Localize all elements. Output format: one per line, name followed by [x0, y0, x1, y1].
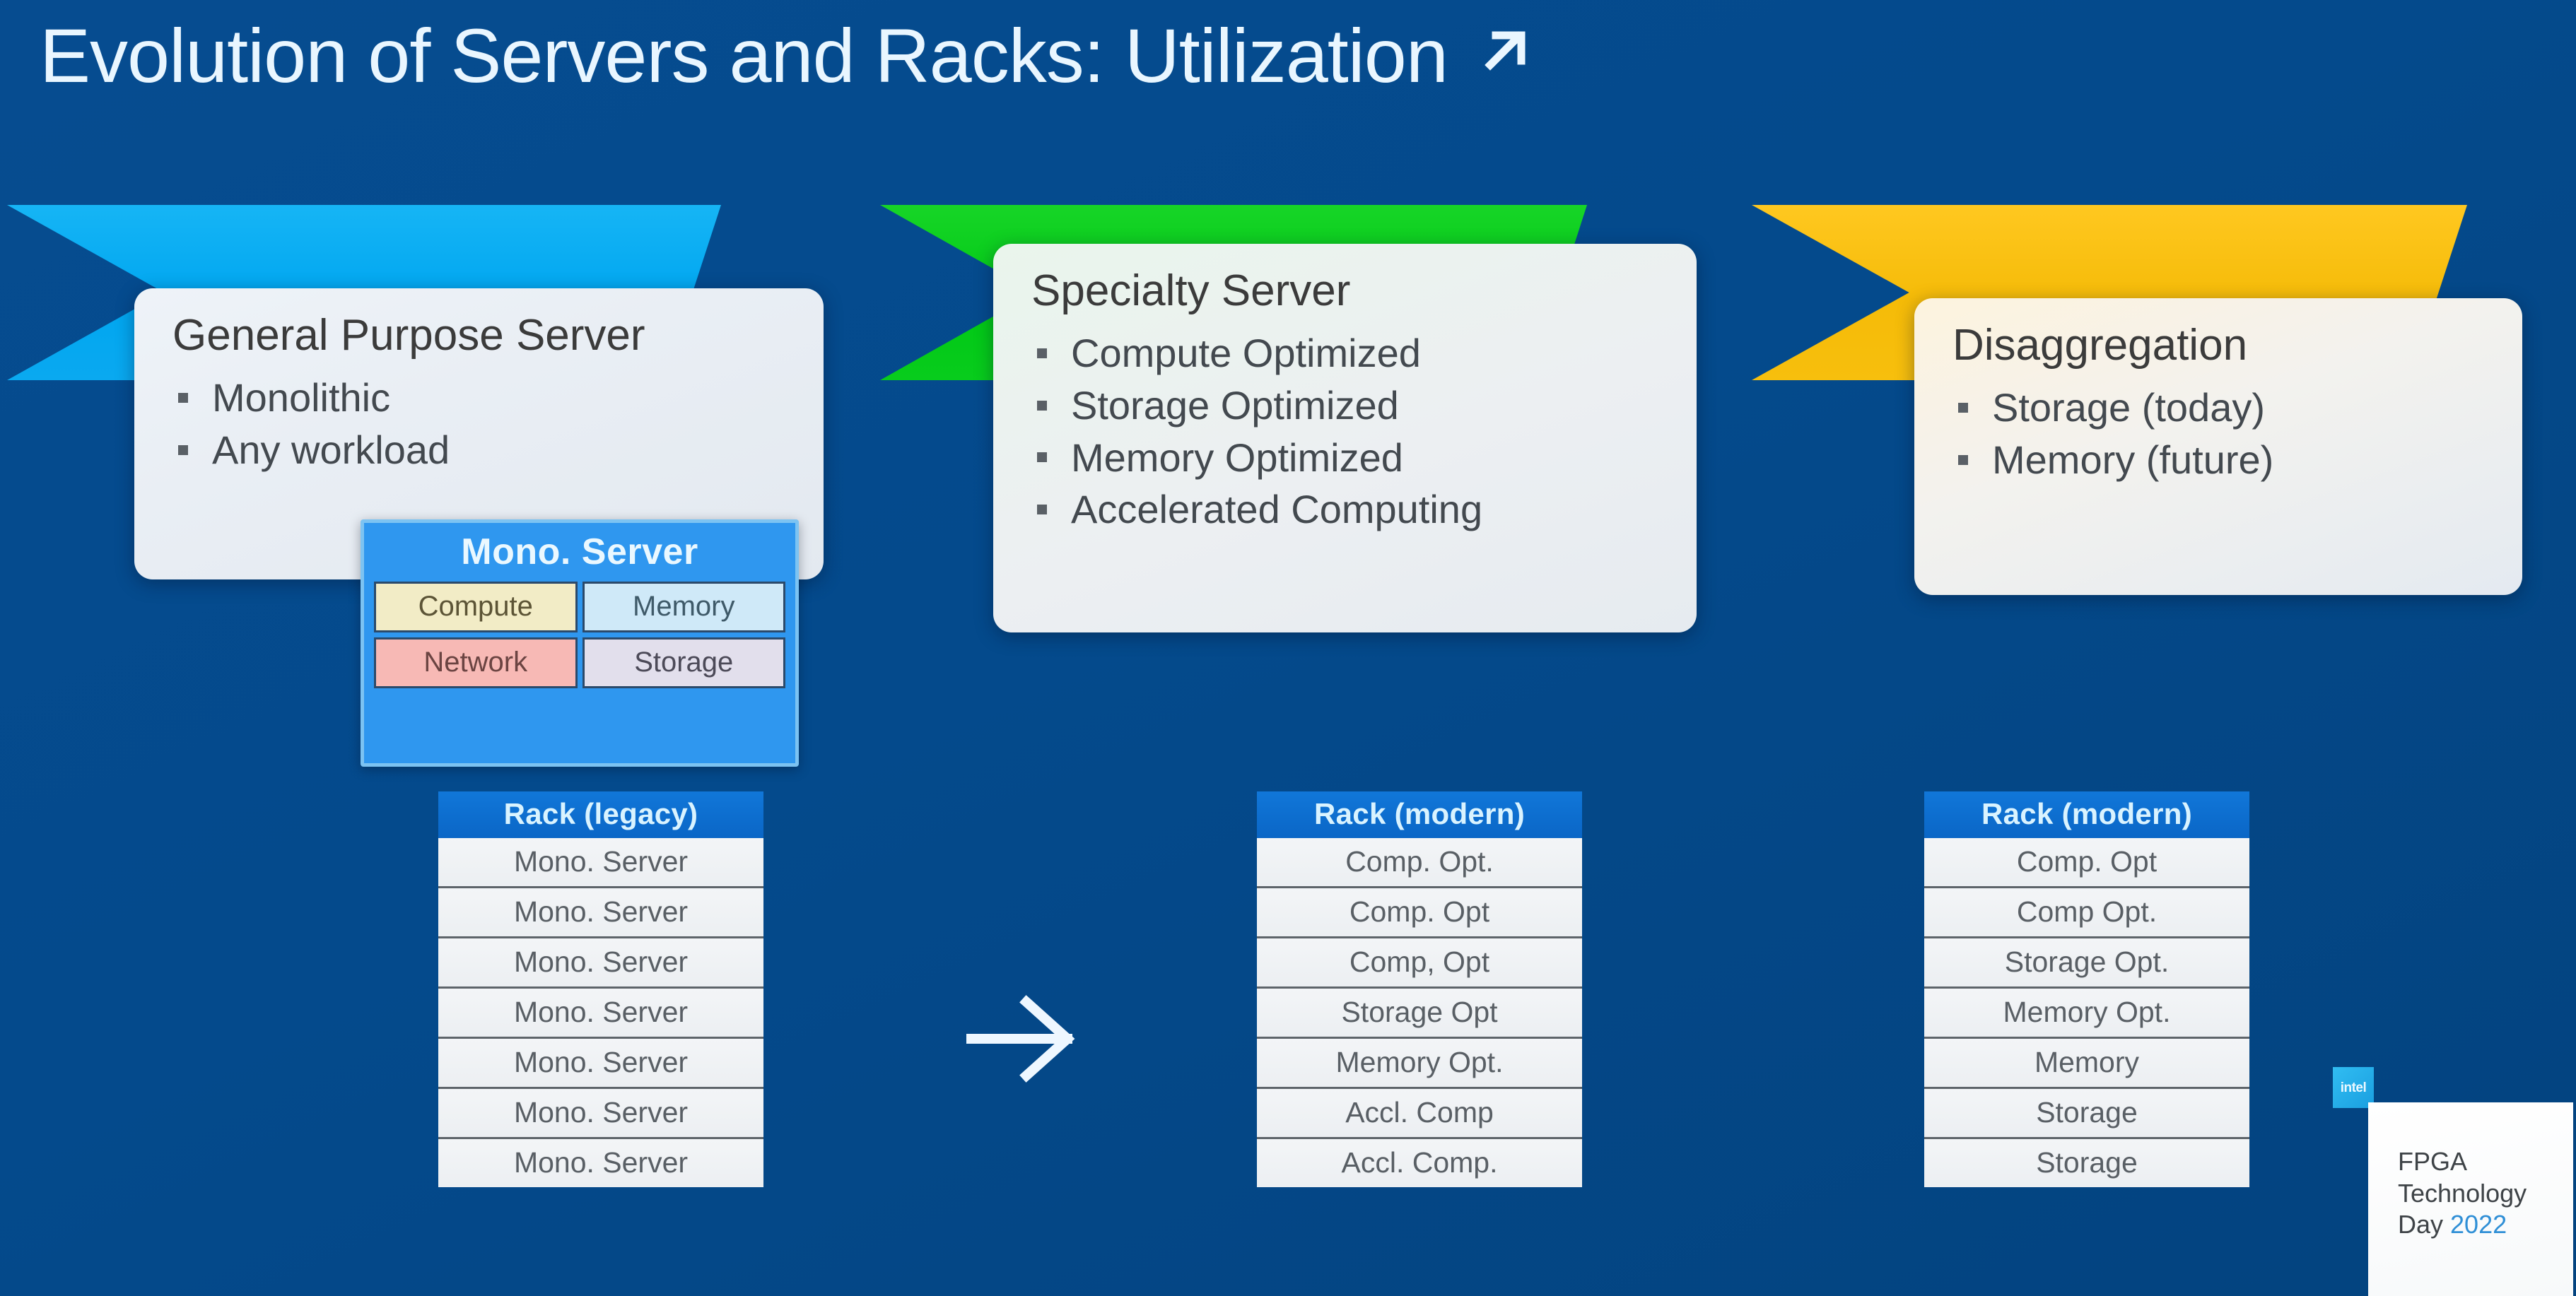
rack-row: Storage	[1924, 1089, 2249, 1139]
event-logo-line-3: Day 2022	[2398, 1209, 2573, 1241]
list-item: Memory (future)	[1953, 434, 2488, 486]
rack-row: Comp, Opt	[1257, 938, 1582, 989]
component-cell-compute: Compute	[374, 582, 578, 632]
rack-row: Storage Opt.	[1924, 938, 2249, 989]
rack-row: Accl. Comp.	[1257, 1139, 1582, 1187]
rack-row: Memory	[1924, 1039, 2249, 1089]
event-logo-day-label: Day	[2398, 1210, 2450, 1239]
bullet-text: Any workload	[212, 428, 450, 472]
list-item: Accelerated Computing	[1031, 483, 1663, 536]
list-item: Any workload	[172, 424, 790, 476]
rack-row: Storage Opt	[1257, 989, 1582, 1039]
mono-server-component-grid: Compute Memory Network Storage	[374, 582, 785, 688]
mono-server-title: Mono. Server	[374, 530, 785, 575]
rack-row: Mono. Server	[438, 838, 763, 888]
rack-header: Rack (modern)	[1257, 791, 1582, 838]
list-item: Storage Optimized	[1031, 379, 1663, 432]
bullet-list-specialty: Compute Optimized Storage Optimized Memo…	[1031, 327, 1663, 536]
bullet-square-icon	[178, 393, 188, 403]
event-logo-year: 2022	[2450, 1210, 2507, 1239]
rack-row: Memory Opt.	[1257, 1039, 1582, 1089]
bullet-square-icon	[1037, 452, 1047, 462]
component-cell-memory: Memory	[582, 582, 786, 632]
event-logo-line-2: Technology	[2398, 1178, 2573, 1210]
bullet-text: Storage Optimized	[1071, 383, 1399, 428]
rack-row: Storage	[1924, 1139, 2249, 1187]
rack-row: Comp. Opt	[1924, 838, 2249, 888]
card-disaggregation: Disaggregation Storage (today) Memory (f…	[1914, 298, 2522, 595]
bullet-list-general-purpose: Monolithic Any workload	[172, 372, 790, 476]
bullet-text: Memory (future)	[1992, 437, 2273, 482]
event-logo-card: FPGA Technology Day 2022	[2368, 1102, 2573, 1296]
bullet-text: Storage (today)	[1992, 385, 2265, 430]
page-title: Evolution of Servers and Racks: Utilizat…	[40, 6, 2160, 105]
bullet-square-icon	[1958, 455, 1968, 465]
rack-row: Mono. Server	[438, 1089, 763, 1139]
rack-legacy: Rack (legacy) Mono. Server Mono. Server …	[438, 791, 763, 1187]
bullet-square-icon	[1958, 403, 1968, 413]
rack-row: Accl. Comp	[1257, 1089, 1582, 1139]
rack-row: Comp. Opt.	[1257, 838, 1582, 888]
rack-row: Memory Opt.	[1924, 989, 2249, 1039]
rack-header: Rack (modern)	[1924, 791, 2249, 838]
rack-row: Mono. Server	[438, 1039, 763, 1089]
rack-row: Comp Opt.	[1924, 888, 2249, 938]
component-cell-storage: Storage	[582, 637, 786, 688]
rack-modern-middle: Rack (modern) Comp. Opt. Comp. Opt Comp,…	[1257, 791, 1582, 1187]
bullet-text: Monolithic	[212, 375, 390, 420]
card-title-general-purpose: General Purpose Server	[172, 312, 790, 359]
list-item: Monolithic	[172, 372, 790, 424]
bullet-list-disaggregation: Storage (today) Memory (future)	[1953, 382, 2488, 486]
rack-header: Rack (legacy)	[438, 791, 763, 838]
arrow-up-right-icon	[1472, 18, 1537, 83]
mono-server-box: Mono. Server Compute Memory Network Stor…	[361, 519, 799, 767]
bullet-square-icon	[1037, 505, 1047, 514]
rack-row: Mono. Server	[438, 938, 763, 989]
bullet-square-icon	[1037, 348, 1047, 358]
list-item: Memory Optimized	[1031, 432, 1663, 484]
rack-row: Comp. Opt	[1257, 888, 1582, 938]
page-title-text: Evolution of Servers and Racks: Utilizat…	[40, 11, 1448, 100]
bullet-text: Memory Optimized	[1071, 435, 1403, 480]
list-item: Storage (today)	[1953, 382, 2488, 434]
rack-row: Mono. Server	[438, 888, 763, 938]
rack-row: Mono. Server	[438, 989, 763, 1039]
component-cell-network: Network	[374, 637, 578, 688]
rack-modern-right: Rack (modern) Comp. Opt Comp Opt. Storag…	[1924, 791, 2249, 1187]
arrow-right-icon	[961, 989, 1089, 1088]
bullet-text: Compute Optimized	[1071, 331, 1421, 375]
event-logo-line-1: FPGA	[2398, 1146, 2573, 1178]
card-title-disaggregation: Disaggregation	[1953, 322, 2488, 369]
bullet-text: Accelerated Computing	[1071, 487, 1482, 531]
rack-row: Mono. Server	[438, 1139, 763, 1187]
card-title-specialty: Specialty Server	[1031, 268, 1663, 314]
intel-logo-text: intel	[2341, 1081, 2367, 1095]
bullet-square-icon	[1037, 401, 1047, 411]
slide-canvas: Evolution of Servers and Racks: Utilizat…	[0, 0, 2576, 1296]
card-specialty: Specialty Server Compute Optimized Stora…	[993, 244, 1697, 632]
list-item: Compute Optimized	[1031, 327, 1663, 379]
bullet-square-icon	[178, 445, 188, 455]
